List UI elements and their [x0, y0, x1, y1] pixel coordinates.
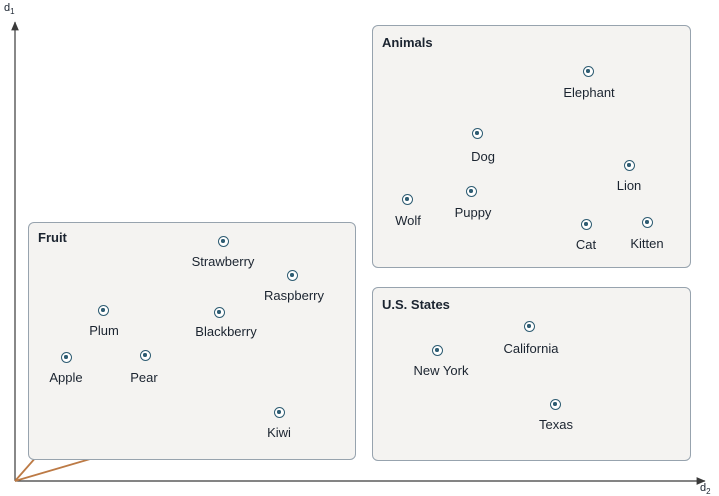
group-box-animals — [372, 25, 691, 268]
point-strawberry[interactable] — [218, 236, 229, 247]
point-puppy[interactable] — [466, 186, 477, 197]
point-label-apple: Apple — [49, 370, 82, 385]
point-kiwi[interactable] — [274, 407, 285, 418]
point-dog[interactable] — [472, 128, 483, 139]
group-title-us-states: U.S. States — [382, 297, 450, 312]
point-label-california: California — [504, 341, 559, 356]
point-apple[interactable] — [61, 352, 72, 363]
point-label-puppy: Puppy — [455, 205, 492, 220]
point-wolf[interactable] — [402, 194, 413, 205]
point-label-lion: Lion — [617, 178, 642, 193]
point-label-pear: Pear — [130, 370, 157, 385]
point-california[interactable] — [524, 321, 535, 332]
point-raspberry[interactable] — [287, 270, 298, 281]
point-blackberry[interactable] — [214, 307, 225, 318]
x-axis-label: d2 — [700, 482, 711, 496]
point-label-elephant: Elephant — [563, 85, 614, 100]
point-label-kitten: Kitten — [630, 236, 663, 251]
y-axis-label: d1 — [4, 2, 15, 16]
point-lion[interactable] — [624, 160, 635, 171]
y-axis-label-sub: 1 — [10, 7, 14, 16]
point-kitten[interactable] — [642, 217, 653, 228]
group-title-animals: Animals — [382, 35, 433, 50]
point-label-dog: Dog — [471, 149, 495, 164]
point-label-texas: Texas — [539, 417, 573, 432]
point-new-york[interactable] — [432, 345, 443, 356]
point-label-new-york: New York — [414, 363, 469, 378]
point-label-plum: Plum — [89, 323, 119, 338]
point-label-cat: Cat — [576, 237, 596, 252]
point-label-kiwi: Kiwi — [267, 425, 291, 440]
group-title-fruit: Fruit — [38, 230, 67, 245]
point-label-strawberry: Strawberry — [192, 254, 255, 269]
point-label-wolf: Wolf — [395, 213, 421, 228]
point-label-raspberry: Raspberry — [264, 288, 324, 303]
point-cat[interactable] — [581, 219, 592, 230]
point-plum[interactable] — [98, 305, 109, 316]
point-texas[interactable] — [550, 399, 561, 410]
diagram-canvas: d1 d2 FruitStrawberryRaspberryPlumBlackb… — [0, 0, 719, 495]
point-pear[interactable] — [140, 350, 151, 361]
point-label-blackberry: Blackberry — [195, 324, 256, 339]
point-elephant[interactable] — [583, 66, 594, 77]
